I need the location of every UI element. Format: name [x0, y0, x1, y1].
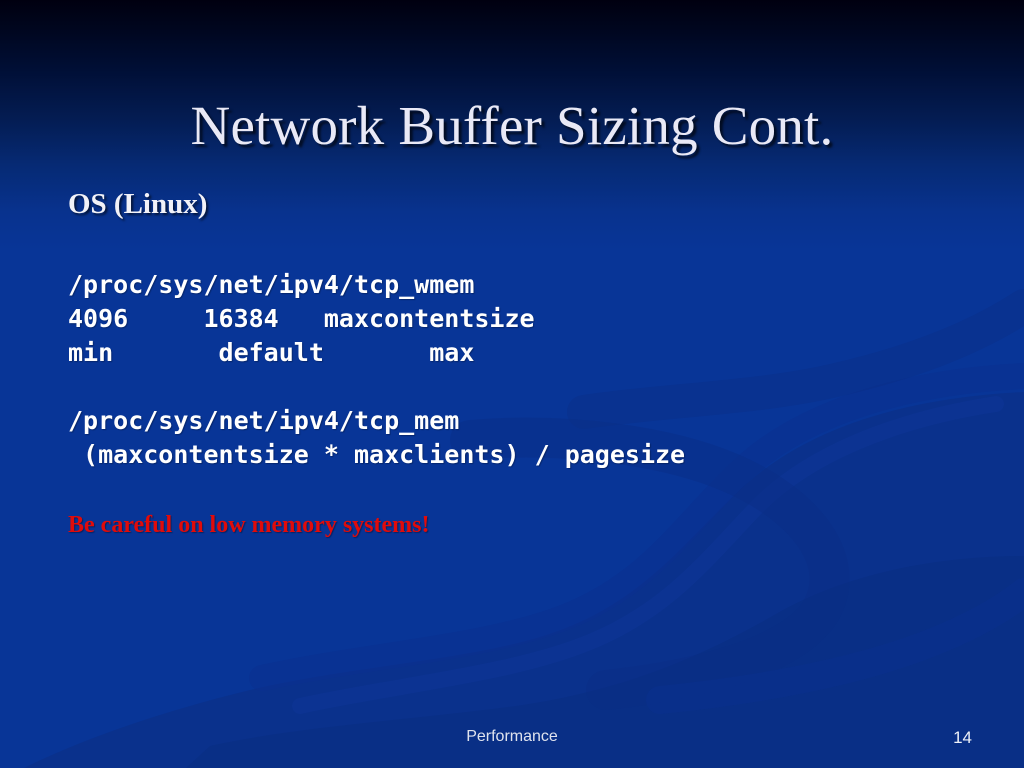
spacer: [68, 222, 968, 268]
warning-text: Be careful on low memory systems!: [68, 510, 968, 540]
footer-section-label: Performance: [0, 728, 1024, 746]
slide-title: Network Buffer Sizing Cont.: [0, 95, 1024, 157]
spacer: [68, 472, 968, 510]
code-block-tcp-mem: /proc/sys/net/ipv4/tcp_mem (maxcontentsi…: [68, 404, 968, 472]
code-block-tcp-wmem: /proc/sys/net/ipv4/tcp_wmem 4096 16384 m…: [68, 268, 968, 370]
spacer: [68, 370, 968, 404]
footer-page-number: 14: [953, 728, 972, 748]
section-heading-os-linux: OS (Linux): [68, 186, 968, 222]
slide-body: OS (Linux) /proc/sys/net/ipv4/tcp_wmem 4…: [68, 186, 968, 540]
presentation-slide: Network Buffer Sizing Cont. OS (Linux) /…: [0, 0, 1024, 768]
slide-footer: Performance 14: [0, 728, 1024, 754]
